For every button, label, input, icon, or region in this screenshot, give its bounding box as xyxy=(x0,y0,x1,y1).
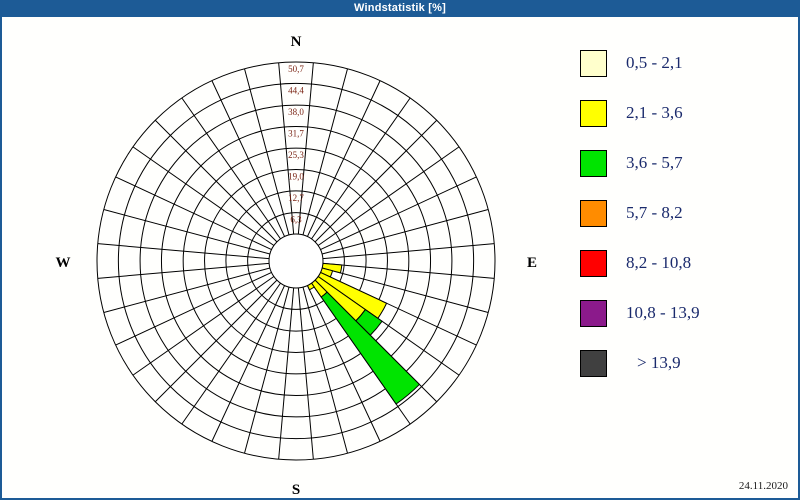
ring-label: 31,7 xyxy=(288,128,304,138)
ring-label: 38,0 xyxy=(288,107,304,117)
legend-swatch xyxy=(580,250,607,277)
cardinal-label-west: W xyxy=(56,255,71,271)
cardinal-label-north: N xyxy=(291,34,302,50)
legend-row: 8,2 - 10,8 xyxy=(580,238,780,288)
legend-swatch xyxy=(580,150,607,177)
legend-swatch xyxy=(580,350,607,377)
ring-label: 6,3 xyxy=(290,215,302,225)
cardinal-label-south: S xyxy=(292,482,300,498)
legend-label: 10,8 - 13,9 xyxy=(626,303,700,323)
rose-ring-labels: 6,312,719,025,331,738,044,450,7 xyxy=(288,64,304,225)
legend-label: 5,7 - 8,2 xyxy=(626,203,683,223)
rose-calm-circle xyxy=(269,234,323,288)
ring-label: 25,3 xyxy=(288,150,304,160)
calm-circle xyxy=(269,234,323,288)
cardinal-label-east: E xyxy=(527,255,537,271)
legend-swatch xyxy=(580,300,607,327)
legend-label: 2,1 - 3,6 xyxy=(626,103,683,123)
date-stamp: 24.11.2020 xyxy=(739,480,788,492)
legend-swatch xyxy=(580,50,607,77)
ring-label: 50,7 xyxy=(288,64,304,74)
ring-label: 44,4 xyxy=(288,85,304,95)
ring-label: 12,7 xyxy=(288,193,304,203)
legend-row: 10,8 - 13,9 xyxy=(580,288,780,338)
legend-label: 0,5 - 2,1 xyxy=(626,53,683,73)
legend: 0,5 - 2,12,1 - 3,63,6 - 5,75,7 - 8,28,2 … xyxy=(580,38,780,388)
legend-row: 0,5 - 2,1 xyxy=(580,38,780,88)
rose-petals xyxy=(307,263,419,404)
window-title: Windstatistik [%] xyxy=(354,0,446,17)
legend-row: 5,7 - 8,2 xyxy=(580,188,780,238)
legend-label: > 13,9 xyxy=(637,353,681,373)
legend-label: 8,2 - 10,8 xyxy=(626,253,691,273)
window-title-bar: Windstatistik [%] xyxy=(2,0,798,17)
legend-swatch xyxy=(580,200,607,227)
legend-swatch xyxy=(580,100,607,127)
windrose-window: Windstatistik [%] 6,312,719,025,331,738,… xyxy=(0,0,800,500)
legend-row: 3,6 - 5,7 xyxy=(580,138,780,188)
legend-row: 2,1 - 3,6 xyxy=(580,88,780,138)
ring-label: 19,0 xyxy=(288,172,304,182)
legend-row: > 13,9 xyxy=(580,338,780,388)
legend-label: 3,6 - 5,7 xyxy=(626,153,683,173)
